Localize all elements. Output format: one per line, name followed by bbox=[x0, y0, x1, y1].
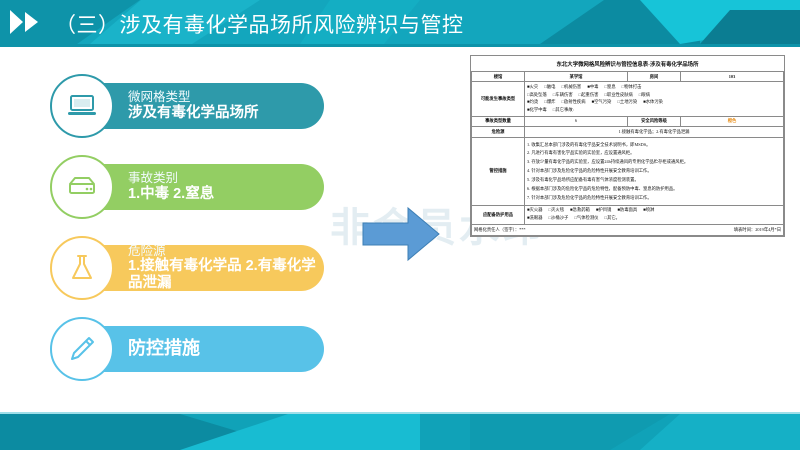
card-4-badge bbox=[50, 317, 114, 381]
table-footer: 网格化责任人（签字）：*** 填表时间：2019年4月*日 bbox=[472, 225, 784, 235]
measure-item: 1. 收集汇总本部门涉及的有毒化学品安全技术说明书，即MSDS。 bbox=[527, 142, 781, 149]
cell-room-value: 103 bbox=[681, 72, 784, 82]
card-2-badge bbox=[50, 155, 114, 219]
date-label: 填表时间： bbox=[734, 227, 755, 232]
risk-info-table: 东北大学微网格风险辨识与管控信息表-涉及有毒化学品场所 楼馆 某学馆 房间 10… bbox=[470, 55, 785, 237]
cell-building-value: 某学馆 bbox=[525, 72, 628, 82]
table-row-footer: 网格化责任人（签字）：*** 填表时间：2019年4月*日 bbox=[472, 225, 784, 235]
card-2-text: 事故类别 1.中毒 2.窒息 bbox=[128, 171, 214, 203]
cell-hazard-label: 危险源 bbox=[472, 127, 525, 137]
card-3-text: 危险源 1.接触有毒化学品 2.有毒化学品泄漏 bbox=[128, 244, 324, 293]
date-field[interactable]: 填表时间：2019年4月*日 bbox=[734, 227, 781, 233]
measure-item: 2. 凡进行有毒有害化学品实验的实验室，应设置通风柜。 bbox=[527, 150, 781, 157]
footer-band bbox=[0, 414, 800, 450]
accident-type-checkbox[interactable]: □职业性皮肤病 bbox=[604, 92, 632, 98]
measure-item: 3. 存放少量有毒化学品的实验室，应设置24h持续通风的专用化学品贮存柜或通风柜… bbox=[527, 159, 781, 166]
table-row-measures: 管控措施 1. 收集汇总本部门涉及的有毒化学品安全技术说明书，即MSDS。2. … bbox=[472, 137, 784, 205]
card-3-value: 1.接触有毒化学品 2.有毒化学品泄漏 bbox=[128, 258, 324, 292]
equipment-checkbox[interactable]: □沙桶沙子 bbox=[549, 215, 569, 221]
measure-item: 5. 涉及有毒化学品场所应配备有毒有害气体浓度检测装置。 bbox=[527, 177, 781, 184]
equipment-checkbox[interactable]: ■护目镜 bbox=[596, 207, 612, 213]
signature-field[interactable]: 网格化责任人（签字）：*** bbox=[474, 227, 526, 233]
card-2-kicker: 事故类别 bbox=[128, 171, 214, 186]
measure-item: 4. 针对本部门涉及危险化学品的危险特性开展安全教育培训工作。 bbox=[527, 168, 781, 175]
signature-label: 网格化责任人（签字）： bbox=[474, 227, 519, 232]
accident-type-row: ■灼烫□爆炸□放射性疾病■空气污染□土地污染■水体污染 bbox=[527, 99, 781, 105]
measure-item: 7. 针对本部门涉及危险化学品的危险特性开展安全教育培训工作。 bbox=[527, 195, 781, 202]
card-grid-type[interactable]: 微网格类型 涉及有毒化学品场所 bbox=[62, 83, 324, 129]
card-2-value: 1.中毒 2.窒息 bbox=[128, 186, 214, 203]
accident-type-checkbox[interactable]: ■化学中毒 bbox=[527, 107, 547, 113]
accident-type-checkbox[interactable]: □车辆伤害 bbox=[553, 92, 573, 98]
accident-type-checkbox[interactable]: □起重伤害 bbox=[579, 92, 599, 98]
play-triangles-icon bbox=[10, 9, 46, 35]
accident-type-checkbox[interactable]: □窒息 bbox=[604, 84, 615, 90]
banner-underline bbox=[0, 44, 800, 47]
accident-type-checkbox[interactable]: □放射性疾病 bbox=[561, 99, 585, 105]
table-row-equipment: 应配备防护用品 ■灭火器□灭火毯■急救药箱■护目镜■防毒面具■喷淋■洗眼器□沙桶… bbox=[472, 205, 784, 224]
card-4-text: 防控措施 bbox=[128, 338, 200, 359]
cell-measures-label: 管控措施 bbox=[472, 137, 525, 205]
card-1-badge bbox=[50, 74, 114, 138]
accident-type-checkbox[interactable]: ■空气污染 bbox=[592, 99, 612, 105]
accident-type-row: ■火灾□触电□机械伤害■中毒□窒息□物体打击 bbox=[527, 84, 781, 90]
card-1-text: 微网格类型 涉及有毒化学品场所 bbox=[128, 90, 259, 122]
table-row-location: 楼馆 某学馆 房间 103 bbox=[472, 72, 784, 82]
accident-type-row: ■化学中毒□其它事故: bbox=[527, 107, 781, 113]
accident-types-checkbox-group[interactable]: ■火灾□触电□机械伤害■中毒□窒息□物体打击□高处坠落□车辆伤害□起重伤害□职业… bbox=[525, 82, 784, 117]
footband-shape-4 bbox=[640, 414, 800, 450]
accident-type-row: □高处坠落□车辆伤害□起重伤害□职业性皮肤病□眼病 bbox=[527, 92, 781, 98]
accident-type-checkbox[interactable]: ■中毒 bbox=[587, 84, 598, 90]
table-title: 东北大学微网格风险辨识与管控信息表-涉及有毒化学品场所 bbox=[471, 56, 784, 71]
accident-type-checkbox[interactable]: ■火灾 bbox=[527, 84, 538, 90]
equipment-checkbox[interactable]: □气体检测仪 bbox=[574, 215, 598, 221]
slide-canvas: （三）涉及有毒化学品场所风险辨识与管控 非会员水印 微网格类型 涉及有毒化学品场… bbox=[0, 0, 800, 450]
table-grid: 楼馆 某学馆 房间 103 可能发生事故类型 ■火灾□触电□机械伤害■中毒□窒息… bbox=[471, 71, 784, 236]
card-3-badge bbox=[50, 236, 114, 300]
card-hazard-source[interactable]: 危险源 1.接触有毒化学品 2.有毒化学品泄漏 bbox=[62, 245, 324, 291]
cell-hazard-value: 1.接触有毒化学品；2.有毒化学品泄漏 bbox=[525, 127, 784, 137]
cell-room-label: 房间 bbox=[627, 72, 680, 82]
footband-shape-3 bbox=[470, 414, 670, 450]
accident-type-checkbox[interactable]: □物体打击 bbox=[622, 84, 642, 90]
cell-count-label: 事故类型数量 bbox=[472, 116, 525, 126]
pencil-icon bbox=[67, 334, 97, 364]
equipment-checkbox[interactable]: □其它。 bbox=[604, 215, 620, 221]
right-arrow-icon bbox=[362, 205, 440, 263]
table-row-count: 事故类型数量 6 安全风险等级 橙色 bbox=[472, 116, 784, 126]
cell-equipment-label: 应配备防护用品 bbox=[472, 205, 525, 224]
equipment-checkbox[interactable]: ■防毒面具 bbox=[617, 207, 637, 213]
accident-type-checkbox[interactable]: □触电 bbox=[544, 84, 555, 90]
page-title: （三）涉及有毒化学品场所风险辨识与管控 bbox=[55, 9, 464, 39]
card-1-value: 涉及有毒化学品场所 bbox=[128, 105, 259, 122]
card-control-measures[interactable]: 防控措施 bbox=[62, 326, 324, 372]
flask-icon bbox=[69, 254, 95, 282]
equipment-row: ■灭火器□灭火毯■急救药箱■护目镜■防毒面具■喷淋 bbox=[527, 207, 781, 213]
equipment-checkbox[interactable]: ■急救药箱 bbox=[570, 207, 590, 213]
equipment-row: ■洗眼器□沙桶沙子□气体检测仪□其它。 bbox=[527, 215, 781, 221]
cell-building-label: 楼馆 bbox=[472, 72, 525, 82]
accident-type-checkbox[interactable]: □高处坠落 bbox=[527, 92, 547, 98]
accident-type-checkbox[interactable]: □其它事故: bbox=[553, 107, 574, 113]
server-icon bbox=[66, 175, 98, 199]
accident-type-checkbox[interactable]: ■灼烫 bbox=[527, 99, 538, 105]
accident-type-checkbox[interactable]: □机械伤害 bbox=[561, 84, 581, 90]
laptop-icon bbox=[67, 94, 97, 118]
status-badge-risk-level: 橙色 bbox=[681, 116, 784, 126]
table-row-hazard: 危险源 1.接触有毒化学品；2.有毒化学品泄漏 bbox=[472, 127, 784, 137]
cell-count-value: 6 bbox=[525, 116, 628, 126]
signature-value: *** bbox=[519, 227, 525, 232]
accident-type-checkbox[interactable]: □眼病 bbox=[639, 92, 650, 98]
title-banner: （三）涉及有毒化学品场所风险辨识与管控 bbox=[0, 0, 800, 44]
cell-accident-types-label: 可能发生事故类型 bbox=[472, 82, 525, 117]
equipment-checkbox[interactable]: □灭火毯 bbox=[549, 207, 565, 213]
cell-level-label: 安全风险等级 bbox=[627, 116, 680, 126]
card-accident-category[interactable]: 事故类别 1.中毒 2.窒息 bbox=[62, 164, 324, 210]
table-row-accident-types: 可能发生事故类型 ■火灾□触电□机械伤害■中毒□窒息□物体打击□高处坠落□车辆伤… bbox=[472, 82, 784, 117]
card-4-value: 防控措施 bbox=[128, 338, 200, 359]
equipment-checkbox[interactable]: ■灭火器 bbox=[527, 207, 543, 213]
measure-item: 6. 根据本部门涉及的危险化学品的危险特性，配备预防中毒、窒息的防护用品。 bbox=[527, 186, 781, 193]
accident-type-checkbox[interactable]: □爆炸 bbox=[544, 99, 555, 105]
accident-type-checkbox[interactable]: ■水体污染 bbox=[643, 99, 663, 105]
accident-type-checkbox[interactable]: □土地污染 bbox=[617, 99, 637, 105]
card-3-kicker: 危险源 bbox=[128, 244, 324, 259]
equipment-checkbox[interactable]: ■喷淋 bbox=[643, 207, 654, 213]
measures-list: 1. 收集汇总本部门涉及的有毒化学品安全技术说明书，即MSDS。2. 凡进行有毒… bbox=[525, 137, 784, 205]
date-value: 2019年4月*日 bbox=[755, 227, 781, 232]
equipment-checkbox[interactable]: ■洗眼器 bbox=[527, 215, 543, 221]
card-1-kicker: 微网格类型 bbox=[128, 90, 259, 105]
equipment-checkbox-group[interactable]: ■灭火器□灭火毯■急救药箱■护目镜■防毒面具■喷淋■洗眼器□沙桶沙子□气体检测仪… bbox=[525, 205, 784, 224]
